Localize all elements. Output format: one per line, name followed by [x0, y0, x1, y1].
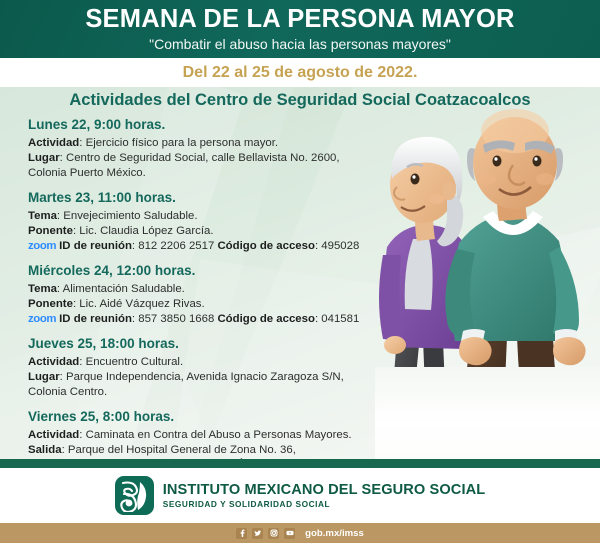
woman-cardigan [384, 225, 470, 349]
zoom-code-value: 495028 [321, 240, 359, 252]
youtube-icon[interactable] [284, 528, 295, 539]
event-line-label: Tema [28, 283, 57, 295]
event-line: Tema: Envejecimiento Saludable. [28, 209, 388, 224]
man-cheek-left [478, 173, 496, 185]
event-item: Jueves 25, 18:00 horas. Actividad: Encue… [28, 336, 388, 400]
man-head [473, 117, 557, 209]
woman-mouth [401, 206, 425, 211]
event-line-label: Ponente [28, 225, 73, 237]
event-line-value: Alimentación Saludable. [63, 283, 185, 295]
event-item: Miércoles 24, 12:00 horas. Tema: Aliment… [28, 263, 388, 327]
social-bar: gob.mx/imss [0, 523, 600, 543]
event-line: Actividad: Caminata en Contra del Abuso … [28, 428, 388, 443]
event-day: Viernes 25, 8:00 horas. [28, 409, 388, 426]
man-hair-left [467, 148, 475, 181]
woman-leg-right [423, 339, 447, 429]
woman-ear [442, 182, 456, 200]
woman-leg-left [389, 337, 419, 429]
woman-eye [411, 174, 420, 185]
man-eye-left-glint [494, 157, 497, 161]
man-nose [509, 165, 525, 185]
zoom-code-label: Código de acceso [217, 240, 314, 252]
zoom-id-value: 857 3850 1668 [138, 313, 214, 325]
institution-tagline: SEGURIDAD Y SOLIDARIDAD SOCIAL [163, 500, 486, 508]
zoom-logo: zoom [28, 240, 56, 252]
woman-eye-glint [412, 175, 415, 179]
woman-eyebrow [407, 164, 423, 167]
man-cuff-right [555, 329, 577, 343]
man-collar [483, 211, 543, 235]
event-line-value: Parque Independencia, Avenida Ignacio Za… [66, 371, 344, 383]
woman-nose [394, 187, 405, 200]
woman-hair-bun [437, 191, 463, 246]
event-line-label: Actividad [28, 356, 79, 368]
man-eye-right [533, 156, 542, 167]
event-line: Lugar: Parque Independencia, Avenida Ign… [28, 370, 388, 385]
event-day: Lunes 22, 9:00 horas. [28, 117, 388, 134]
elderly-couple-illustration [375, 87, 600, 459]
zoom-logo: zoom [28, 313, 56, 325]
event-line-value: Ejercicio físico para la persona mayor. [86, 137, 278, 149]
man-hand-right [553, 337, 586, 365]
event-line: Lugar: Centro de Seguridad Social, calle… [28, 151, 388, 166]
man-hand-left [459, 337, 492, 365]
facebook-icon[interactable] [236, 528, 247, 539]
event-line-label: Ponente [28, 298, 73, 310]
header-subtitle: "Combatir el abuso hacia las personas ma… [149, 37, 451, 51]
page-title: SEMANA DE LA PERSONA MAYOR [85, 7, 514, 33]
woman-blouse [405, 239, 433, 310]
woman-head [390, 147, 456, 223]
woman-cheek [429, 194, 445, 204]
section-title: Actividades del Centro de Seguridad Soci… [0, 91, 600, 110]
woman-shoe-right [420, 425, 454, 443]
event-line: Ponente: Lic. Aidé Vázquez Rivas. [28, 297, 388, 312]
zoom-id-label: ID de reunión [59, 240, 132, 252]
event-item: Martes 23, 11:00 horas. Tema: Envejecimi… [28, 190, 388, 254]
man-shoe-right [520, 431, 573, 445]
event-line-value: Lic. Claudia López García. [79, 225, 213, 237]
zoom-code-value: 041581 [321, 313, 359, 325]
man-eye-right-glint [534, 157, 537, 161]
event-item: Viernes 25, 8:00 horas. Actividad: Camin… [28, 409, 388, 459]
event-line-value: Encuentro Cultural. [86, 356, 184, 368]
man-sleeve-left [445, 249, 475, 337]
event-line: Salida: Parque del Hospital General de Z… [28, 443, 388, 458]
green-divider [0, 459, 600, 468]
event-line-continuation: Colonia Puerto México. [28, 166, 388, 181]
couple-svg [375, 87, 600, 459]
man-eye-left [493, 156, 502, 167]
event-line: Ponente: Lic. Claudia López García. [28, 224, 388, 239]
man-leg-left [466, 337, 507, 431]
zoom-code-label: Código de acceso [217, 313, 314, 325]
man-leg-right [517, 337, 561, 431]
event-line-label: Actividad [28, 137, 79, 149]
date-band: Del 22 al 25 de agosto de 2022. [0, 58, 600, 87]
institution-name: INSTITUTO MEXICANO DEL SEGURO SOCIAL [163, 483, 486, 498]
event-line-value: Lic. Aidé Vázquez Rivas. [79, 298, 204, 310]
man-eyebrow-left [483, 140, 515, 153]
woman-hair [392, 137, 463, 207]
event-line: Actividad: Encuentro Cultural. [28, 355, 388, 370]
illustration-floor [375, 367, 600, 459]
man-mouth [499, 187, 531, 195]
event-line-value: Caminata en Contra del Abuso a Personas … [86, 429, 352, 441]
man-neck [497, 191, 527, 221]
man-eyebrow-right [525, 141, 555, 154]
man-shoe-left [462, 431, 514, 445]
imss-eagle-logo-icon [115, 476, 154, 515]
events-list: Lunes 22, 9:00 horas. Actividad: Ejercic… [28, 117, 388, 459]
event-day: Miércoles 24, 12:00 horas. [28, 263, 388, 280]
content-area: Actividades del Centro de Seguridad Soci… [0, 87, 600, 459]
date-range-text: Del 22 al 25 de agosto de 2022. [183, 64, 418, 82]
event-zoom-line: zoomID de reunión: 812 2206 2517 Código … [28, 239, 388, 254]
zoom-id-label: ID de reunión [59, 313, 132, 325]
event-line: Tema: Alimentación Saludable. [28, 282, 388, 297]
imss-logo-text: INSTITUTO MEXICANO DEL SEGURO SOCIAL SEG… [163, 483, 486, 509]
event-line-value: Centro de Seguridad Social, calle Bellav… [66, 152, 340, 164]
event-line-label: Lugar [28, 152, 60, 164]
man-sweater [452, 215, 566, 341]
man-bald-highlight [481, 109, 549, 153]
instagram-icon[interactable] [268, 528, 279, 539]
twitter-icon[interactable] [252, 528, 263, 539]
background-facet [392, 209, 600, 459]
event-line-label: Salida [28, 444, 62, 456]
man-cuff-left [461, 329, 485, 343]
event-day: Martes 23, 11:00 horas. [28, 190, 388, 207]
header-banner: SEMANA DE LA PERSONA MAYOR "Combatir el … [0, 0, 600, 58]
event-line-label: Lugar [28, 371, 60, 383]
event-item: Lunes 22, 9:00 horas. Actividad: Ejercic… [28, 117, 388, 181]
event-line-value: Envejecimiento Saludable. [63, 210, 197, 222]
event-line-label: Tema [28, 210, 57, 222]
event-line-value: Parque del Hospital General de Zona No. … [68, 444, 296, 456]
woman-neck [415, 213, 435, 241]
social-url[interactable]: gob.mx/imss [305, 528, 364, 539]
man-hair-right [555, 148, 563, 181]
poster: SEMANA DE LA PERSONA MAYOR "Combatir el … [0, 0, 600, 543]
imss-logo-row: INSTITUTO MEXICANO DEL SEGURO SOCIAL SEG… [115, 476, 486, 515]
event-zoom-line: zoomID de reunión: 857 3850 1668 Código … [28, 312, 388, 327]
zoom-id-value: 812 2206 2517 [138, 240, 214, 252]
man-cheek-right [536, 173, 554, 185]
man-sleeve-right [549, 247, 579, 339]
event-line-continuation: Colonia Centro. [28, 385, 388, 400]
event-day: Jueves 25, 18:00 horas. [28, 336, 388, 353]
event-line-label: Actividad [28, 429, 79, 441]
footer: INSTITUTO MEXICANO DEL SEGURO SOCIAL SEG… [0, 468, 600, 523]
imss-eagle-glyph [118, 479, 151, 512]
event-line: Actividad: Ejercicio físico para la pers… [28, 136, 388, 151]
